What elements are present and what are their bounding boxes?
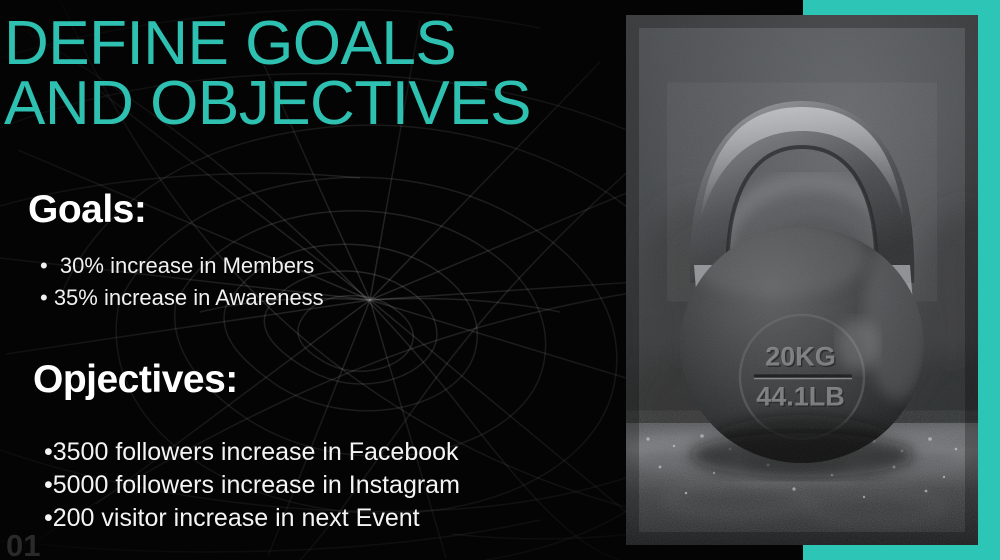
- objectives-heading: Opjectives:: [33, 358, 238, 402]
- objectives-list: •3500 followers increase in Facebook •50…: [44, 436, 604, 535]
- list-item: •200 visitor increase in next Event: [44, 502, 604, 535]
- slide: 20KG 20KG 44.1LB 44.1LB: [0, 0, 1000, 560]
- list-item: • 30% increase in Members: [40, 250, 560, 282]
- goals-list: • 30% increase in Members • 35% increase…: [40, 250, 560, 314]
- list-item: • 35% increase in Awareness: [40, 282, 560, 314]
- kettlebell-photo: 20KG 20KG 44.1LB 44.1LB: [626, 15, 978, 545]
- page-title: DEFINE GOALS AND OBJECTIVES: [4, 14, 624, 134]
- slide-number: 01: [6, 528, 40, 560]
- list-item: •3500 followers increase in Facebook: [44, 436, 604, 469]
- list-item: •5000 followers increase in Instagram: [44, 469, 604, 502]
- goals-heading: Goals:: [28, 188, 146, 232]
